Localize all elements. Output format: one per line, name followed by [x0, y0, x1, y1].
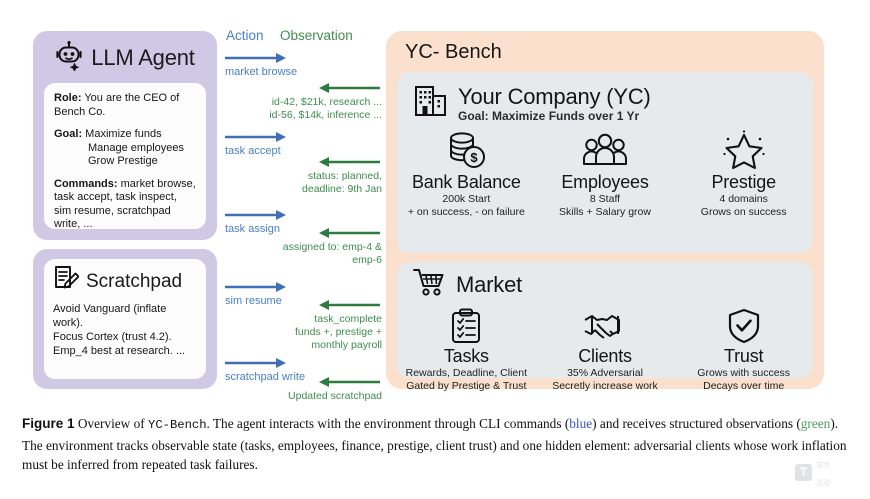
action-arrow-right [225, 209, 287, 221]
observation-arrow-left [318, 227, 380, 239]
action-label-3: task assign [225, 223, 280, 235]
figure-number: Figure 1 [22, 416, 75, 431]
stat-tasks: Tasks Rewards, Deadline, Client Gated by… [397, 304, 536, 392]
stat-line2: Skills + Salary grow [559, 206, 651, 219]
caption-part1: Overview of [75, 416, 148, 431]
caption-part2: . The agent interacts with the environme… [207, 416, 570, 431]
action-arrow-right [225, 357, 287, 369]
watermark-line1: 技术 [816, 462, 830, 469]
yc-bench-title: YC- Bench [405, 41, 502, 64]
shield-check-icon [727, 304, 761, 344]
robot-icon [55, 41, 83, 76]
action-label-2: task accept [225, 145, 281, 157]
agent-goal-text: Maximize funds [82, 128, 161, 140]
action-arrow-right [225, 131, 287, 143]
stat-line1: 4 domains [719, 193, 767, 206]
people-icon [582, 130, 628, 170]
action-column-header: Action [226, 28, 264, 43]
watermark-text: 技术 活动 [816, 454, 830, 490]
observation-column-header: Observation [280, 28, 353, 43]
agent-goal-line: Goal: Maximize fundsManage employeesGrow… [54, 128, 196, 169]
stat-employees: Employees 8 Staff Skills + Salary grow [536, 130, 675, 218]
observation-label-5: Updated scratchpad [288, 390, 382, 403]
scratchpad-panel: Scratchpad Avoid Vanguard (inflate work)… [33, 249, 217, 389]
agent-role-line: Role: You are the CEO of Bench Co. [54, 92, 196, 119]
observation-label-4: task_complete funds +, prestige + monthl… [295, 313, 382, 352]
llm-agent-prompt-card: Role: You are the CEO of Bench Co. Goal:… [44, 83, 206, 229]
stat-line2: Gated by Prestige & Trust [406, 380, 526, 393]
scratchpad-body: Avoid Vanguard (inflate work). Focus Cor… [53, 302, 197, 358]
company-title: Your Company (YC) [458, 85, 651, 109]
scratchpad-card: Scratchpad Avoid Vanguard (inflate work)… [44, 259, 206, 379]
your-company-card: Your Company (YC) Goal: Maximize Funds o… [397, 72, 813, 253]
coins-icon: $ [445, 130, 487, 170]
market-header: Market [413, 266, 522, 303]
observation-arrow-left [318, 299, 380, 311]
company-stats-row: $ Bank Balance 200k Start + on success, … [397, 130, 813, 218]
shopping-cart-icon [413, 266, 447, 303]
agent-commands-line: Commands: market browse, task accept, ta… [54, 178, 196, 232]
exchange-headers: Action Observation [222, 28, 382, 44]
action-label-1: market browse [225, 66, 297, 78]
stat-line1: 8 Staff [590, 193, 620, 206]
stat-line2: + on success, - on failure [408, 206, 525, 219]
market-title: Market [456, 273, 522, 297]
figure-overview: LLM Agent Role: You are the CEO of Bench… [0, 0, 870, 400]
observation-arrow-left [318, 82, 380, 94]
stat-name: Trust [724, 346, 763, 367]
office-building-icon [413, 82, 449, 125]
caption-blue-word: blue [569, 416, 592, 431]
stat-clients: Clients 35% Adversarial Secretly increas… [536, 304, 675, 392]
clipboard-check-icon [449, 304, 483, 344]
agent-goal-label: Goal: [54, 128, 82, 140]
stat-line2: Decays over time [703, 380, 784, 393]
observation-label-3: assigned to: emp-4 & emp-6 [283, 241, 382, 267]
llm-agent-title: LLM Agent [91, 45, 194, 71]
action-label-5: scratchpad write [225, 371, 305, 383]
note-pencil-icon [53, 265, 79, 298]
scratchpad-header: Scratchpad [53, 265, 197, 298]
stat-name: Tasks [444, 346, 489, 367]
stat-line1: Rewards, Deadline, Client [406, 367, 527, 380]
action-arrow-right [225, 281, 287, 293]
star-icon [722, 130, 766, 170]
caption-green-word: green [801, 416, 831, 431]
observation-label-1: id-42, $21k, research ... id-56, $14k, i… [269, 96, 382, 122]
yc-bench-panel: YC- Bench [386, 31, 824, 389]
caption-bench-name: YC-Bench [148, 418, 207, 432]
stat-name: Clients [578, 346, 632, 367]
stat-prestige: Prestige 4 domains Grows on success [674, 130, 813, 218]
stat-bank-balance: $ Bank Balance 200k Start + on success, … [397, 130, 536, 218]
figure-caption: Figure 1 Overview of YC-Bench. The agent… [22, 414, 848, 475]
agent-goal-line2: Manage employees [54, 142, 196, 156]
company-header: Your Company (YC) Goal: Maximize Funds o… [413, 82, 651, 125]
stat-name: Bank Balance [412, 172, 521, 193]
svg-text:$: $ [471, 150, 479, 165]
scratchpad-title: Scratchpad [86, 271, 182, 293]
agent-goal-line3: Grow Prestige [54, 155, 196, 169]
action-arrow-right [225, 52, 287, 64]
market-stats-row: Tasks Rewards, Deadline, Client Gated by… [397, 304, 813, 392]
llm-agent-panel: LLM Agent Role: You are the CEO of Bench… [33, 31, 217, 240]
stat-line2: Secretly increase work [552, 380, 658, 393]
handshake-icon [582, 304, 628, 344]
company-subtitle: Goal: Maximize Funds over 1 Yr [458, 109, 651, 123]
action-observation-column: Action Observation market browse id-42, … [222, 28, 382, 398]
stat-line2: Grows on success [701, 206, 787, 219]
action-label-4: sim resume [225, 295, 282, 307]
agent-commands-label: Commands: [54, 178, 118, 190]
llm-agent-header: LLM Agent [33, 37, 217, 79]
market-card: Market [397, 262, 813, 378]
stat-trust: Trust Grows with success Decays over tim… [674, 304, 813, 392]
watermark-logo-icon: T [795, 464, 812, 481]
observation-arrow-left [318, 376, 380, 388]
observation-label-2: status: planned, deadline: 9th Jan [302, 170, 382, 196]
watermark-line2: 活动 [816, 480, 830, 487]
stat-line1: 35% Adversarial [567, 367, 643, 380]
caption-part3: ) and receives structured observations ( [592, 416, 801, 431]
stat-line1: Grows with success [697, 367, 790, 380]
stat-line1: 200k Start [442, 193, 490, 206]
agent-role-label: Role: [54, 92, 82, 104]
stat-name: Prestige [711, 172, 775, 193]
observation-arrow-left [318, 156, 380, 168]
stat-name: Employees [561, 172, 648, 193]
watermark: T 技术 活动 [795, 462, 851, 482]
